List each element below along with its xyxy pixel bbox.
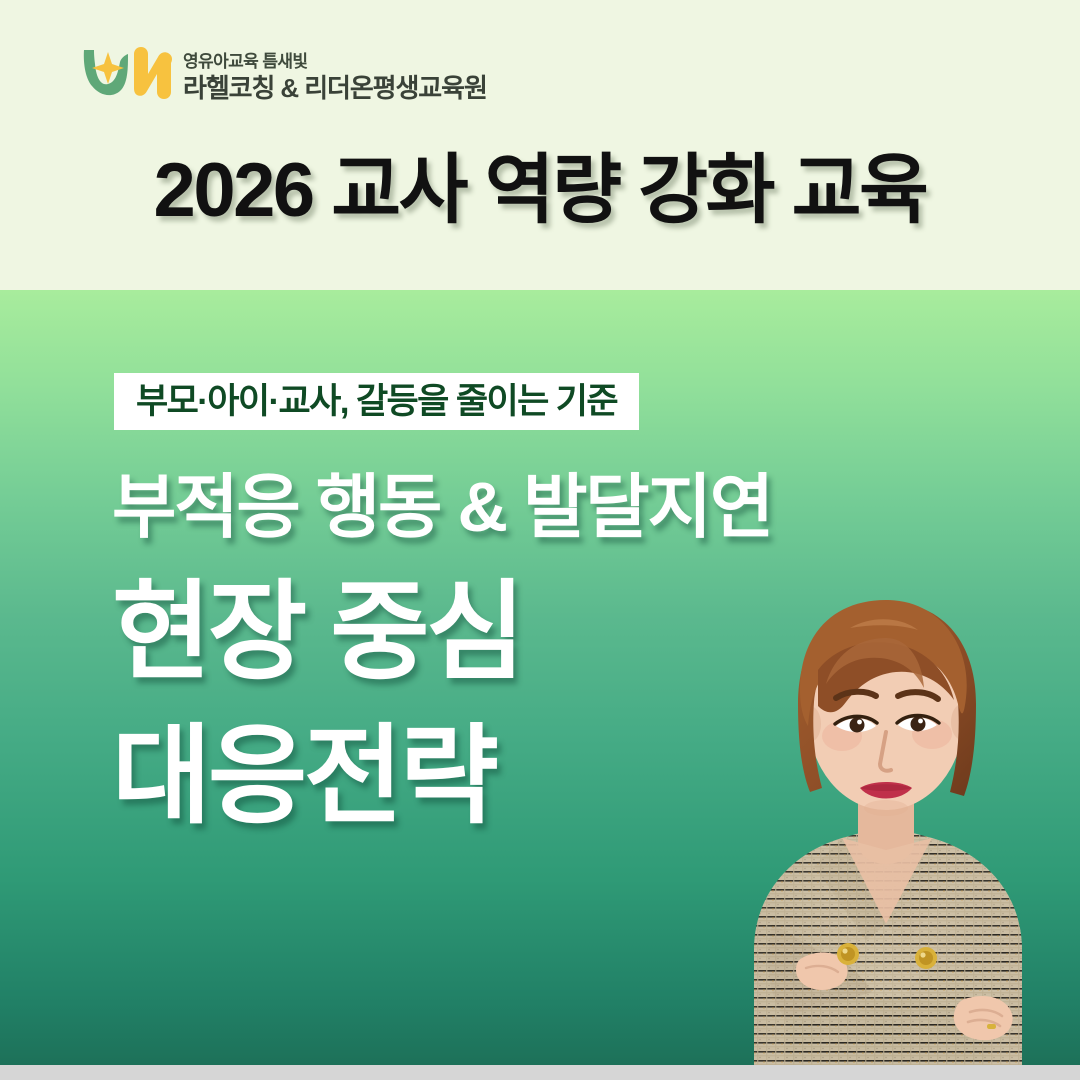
brand-logo-text: 영유아교육 틈새빛 라헬코칭 & 리더온평생교육원 <box>183 53 487 102</box>
poster-canvas: 영유아교육 틈새빛 라헬코칭 & 리더온평생교육원 2026 교사 역량 강화 … <box>0 0 1080 1080</box>
on-crescent-sparkle-icon <box>78 44 174 102</box>
brand-name: 라헬코칭 & 리더온평생교육원 <box>183 75 487 101</box>
brand-logo[interactable]: 영유아교육 틈새빛 라헬코칭 & 리더온평생교육원 <box>78 44 487 102</box>
page-title: 2026 교사 역량 강화 교육 <box>0 148 1080 233</box>
hero-line-1: 부적응 행동 & 발달지연 <box>112 472 772 542</box>
hero-line-2: 현장 중심 <box>112 578 522 686</box>
brand-tagline: 영유아교육 틈새빛 <box>183 53 487 70</box>
subtitle-text: 부모·아이·교사, 갈등을 줄이는 기준 <box>136 384 617 419</box>
footer-strip <box>0 1065 1080 1080</box>
instructor-photo <box>690 520 1080 1080</box>
hero-line-3: 대응전략 <box>112 722 495 830</box>
subtitle-badge: 부모·아이·교사, 갈등을 줄이는 기준 <box>114 373 639 430</box>
